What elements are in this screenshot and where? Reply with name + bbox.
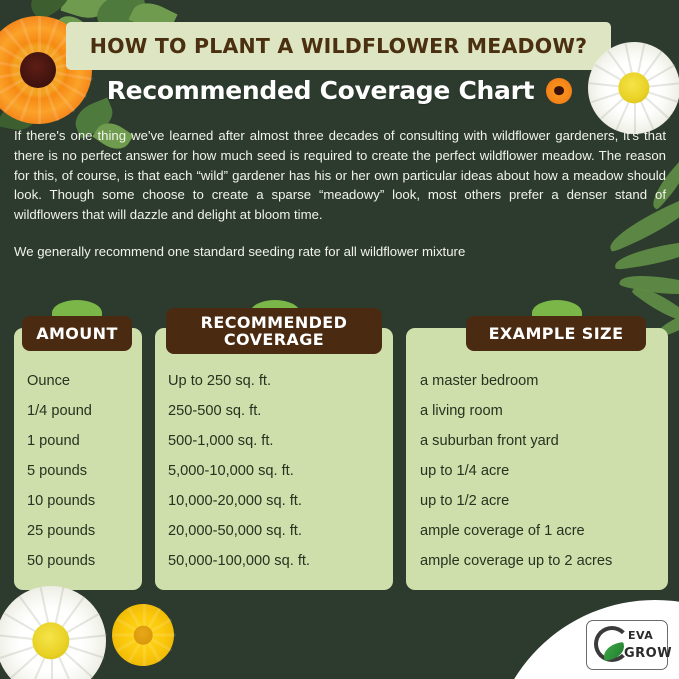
column-amount: Ounce 1/4 pound 1 pound 5 pounds 10 poun… xyxy=(14,328,142,590)
table-cell: a suburban front yard xyxy=(406,426,668,456)
column-example: a master bedroom a living room a suburba… xyxy=(406,328,668,590)
logo-grow-text: GROW xyxy=(624,646,672,661)
column-coverage: Up to 250 sq. ft. 250-500 sq. ft. 500-1,… xyxy=(155,328,393,590)
logo-eva-text: EVA xyxy=(628,629,653,642)
table-cell: up to 1/4 acre xyxy=(406,456,668,486)
table-cell: 25 pounds xyxy=(14,516,142,546)
coreopsis-flower-icon xyxy=(112,604,174,666)
table-cell: 1 pound xyxy=(14,426,142,456)
table-cell: 5,000-10,000 sq. ft. xyxy=(155,456,393,486)
page-title: HOW TO PLANT A WILDFLOWER MEADOW? xyxy=(90,34,588,58)
subtitle-row: Recommended Coverage Chart xyxy=(0,76,679,105)
eva-grow-logo: EVA GROW xyxy=(586,620,668,670)
column-example-panel: a master bedroom a living room a suburba… xyxy=(406,328,668,590)
column-header-coverage: RECOMMENDED COVERAGE xyxy=(166,308,382,354)
column-header-amount: AMOUNT xyxy=(22,316,132,351)
coverage-cell-list: Up to 250 sq. ft. 250-500 sq. ft. 500-1,… xyxy=(155,366,393,576)
table-cell: Ounce xyxy=(14,366,142,396)
intro-text: If there's one thing we've learned after… xyxy=(14,126,666,262)
table-cell: 10,000-20,000 sq. ft. xyxy=(155,486,393,516)
small-orange-flower-icon xyxy=(546,78,572,104)
table-cell: a master bedroom xyxy=(406,366,668,396)
example-cell-list: a master bedroom a living room a suburba… xyxy=(406,366,668,576)
table-cell: a living room xyxy=(406,396,668,426)
table-cell: 5 pounds xyxy=(14,456,142,486)
amount-cell-list: Ounce 1/4 pound 1 pound 5 pounds 10 poun… xyxy=(14,366,142,576)
table-cell: 10 pounds xyxy=(14,486,142,516)
table-cell: ample coverage of 1 acre xyxy=(406,516,668,546)
table-cell: 50 pounds xyxy=(14,546,142,576)
column-amount-panel: Ounce 1/4 pound 1 pound 5 pounds 10 poun… xyxy=(14,328,142,590)
page-subtitle: Recommended Coverage Chart xyxy=(107,76,535,105)
table-cell: Up to 250 sq. ft. xyxy=(155,366,393,396)
daisy-flower-icon xyxy=(588,42,679,134)
intro-paragraph-1: If there's one thing we've learned after… xyxy=(14,126,666,225)
title-banner: HOW TO PLANT A WILDFLOWER MEADOW? xyxy=(66,22,611,70)
table-cell: 500-1,000 sq. ft. xyxy=(155,426,393,456)
daisy-flower-icon xyxy=(0,586,106,679)
table-cell: 250-500 sq. ft. xyxy=(155,396,393,426)
column-header-example: EXAMPLE SIZE xyxy=(466,316,646,351)
table-cell: up to 1/2 acre xyxy=(406,486,668,516)
coverage-table: Ounce 1/4 pound 1 pound 5 pounds 10 poun… xyxy=(0,300,679,590)
table-cell: 50,000-100,000 sq. ft. xyxy=(155,546,393,576)
table-cell: 1/4 pound xyxy=(14,396,142,426)
table-cell: ample coverage up to 2 acres xyxy=(406,546,668,576)
table-cell: 20,000-50,000 sq. ft. xyxy=(155,516,393,546)
intro-paragraph-2: We generally recommend one standard seed… xyxy=(14,242,666,262)
infographic-root: HOW TO PLANT A WILDFLOWER MEADOW? Recomm… xyxy=(0,0,679,679)
column-coverage-panel: Up to 250 sq. ft. 250-500 sq. ft. 500-1,… xyxy=(155,328,393,590)
